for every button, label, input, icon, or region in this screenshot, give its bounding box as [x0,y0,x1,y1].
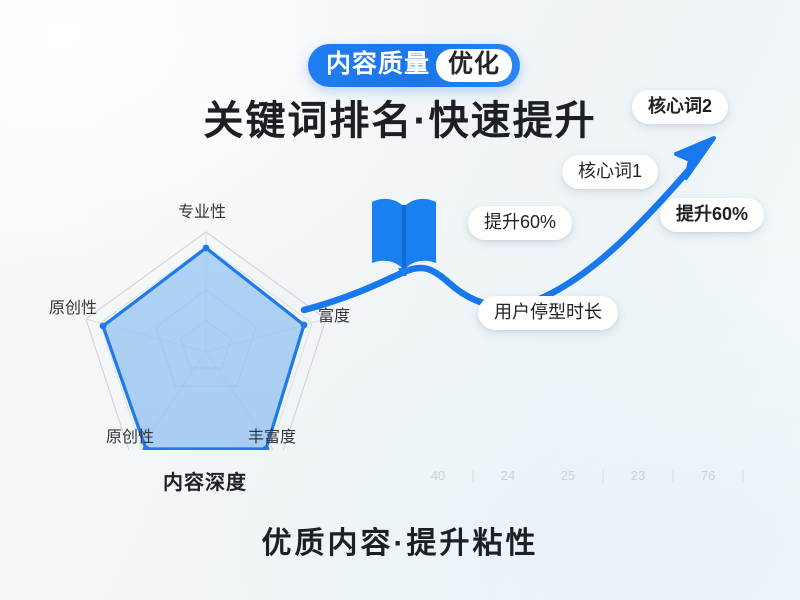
book-stand [398,268,410,276]
growth-arrowhead [676,138,714,178]
axis-tick-label: 25 [538,468,598,483]
open-book-svg [368,188,440,276]
callout-core-keyword-1: 核心词1 [562,155,658,189]
axis-tick-label: 76 [678,468,738,483]
badge-chip-label: 优化 [436,49,512,82]
open-book-icon [368,188,440,281]
book-left-page [372,199,402,268]
content-depth-caption: 内容深度 [163,466,247,495]
axis-tick-label: 40 [408,468,468,483]
book-right-page [406,199,436,268]
badge-lead-label: 内容质量 [326,52,430,79]
radar-axis-label-bottom-left: 原创性 [106,423,154,447]
book-spine [402,205,406,268]
callout-uplift-right: 提升60% [660,198,764,232]
callout-dwell-time: 用户停型时长 [478,296,618,330]
radar-axis-label-bottom-right: 丰富度 [248,423,296,447]
faint-axis-strip: 40|2425|23|76| [408,462,748,488]
axis-tick-label: 23 [608,468,668,483]
page-tagline: 优质内容·提升粘性 [0,518,800,562]
axis-tick-mark: | [738,468,748,483]
callout-core-keyword-2: 核心词2 [632,90,728,124]
axis-tick-label: 24 [478,468,538,483]
content-quality-badge: 内容质量 优化 [308,44,520,87]
radar-axis-label-top: 专业性 [178,198,226,222]
callout-uplift-left: 提升60% [468,206,572,240]
radar-axis-label-left: 原创性 [49,294,97,318]
axis-tick-mark: | [468,468,478,483]
radar-data-polygon [103,248,304,449]
axis-tick-mark: | [598,468,608,483]
axis-tick-mark: | [668,468,678,483]
poster-canvas: 内容质量 优化 关键词排名·快速提升 [0,0,800,600]
